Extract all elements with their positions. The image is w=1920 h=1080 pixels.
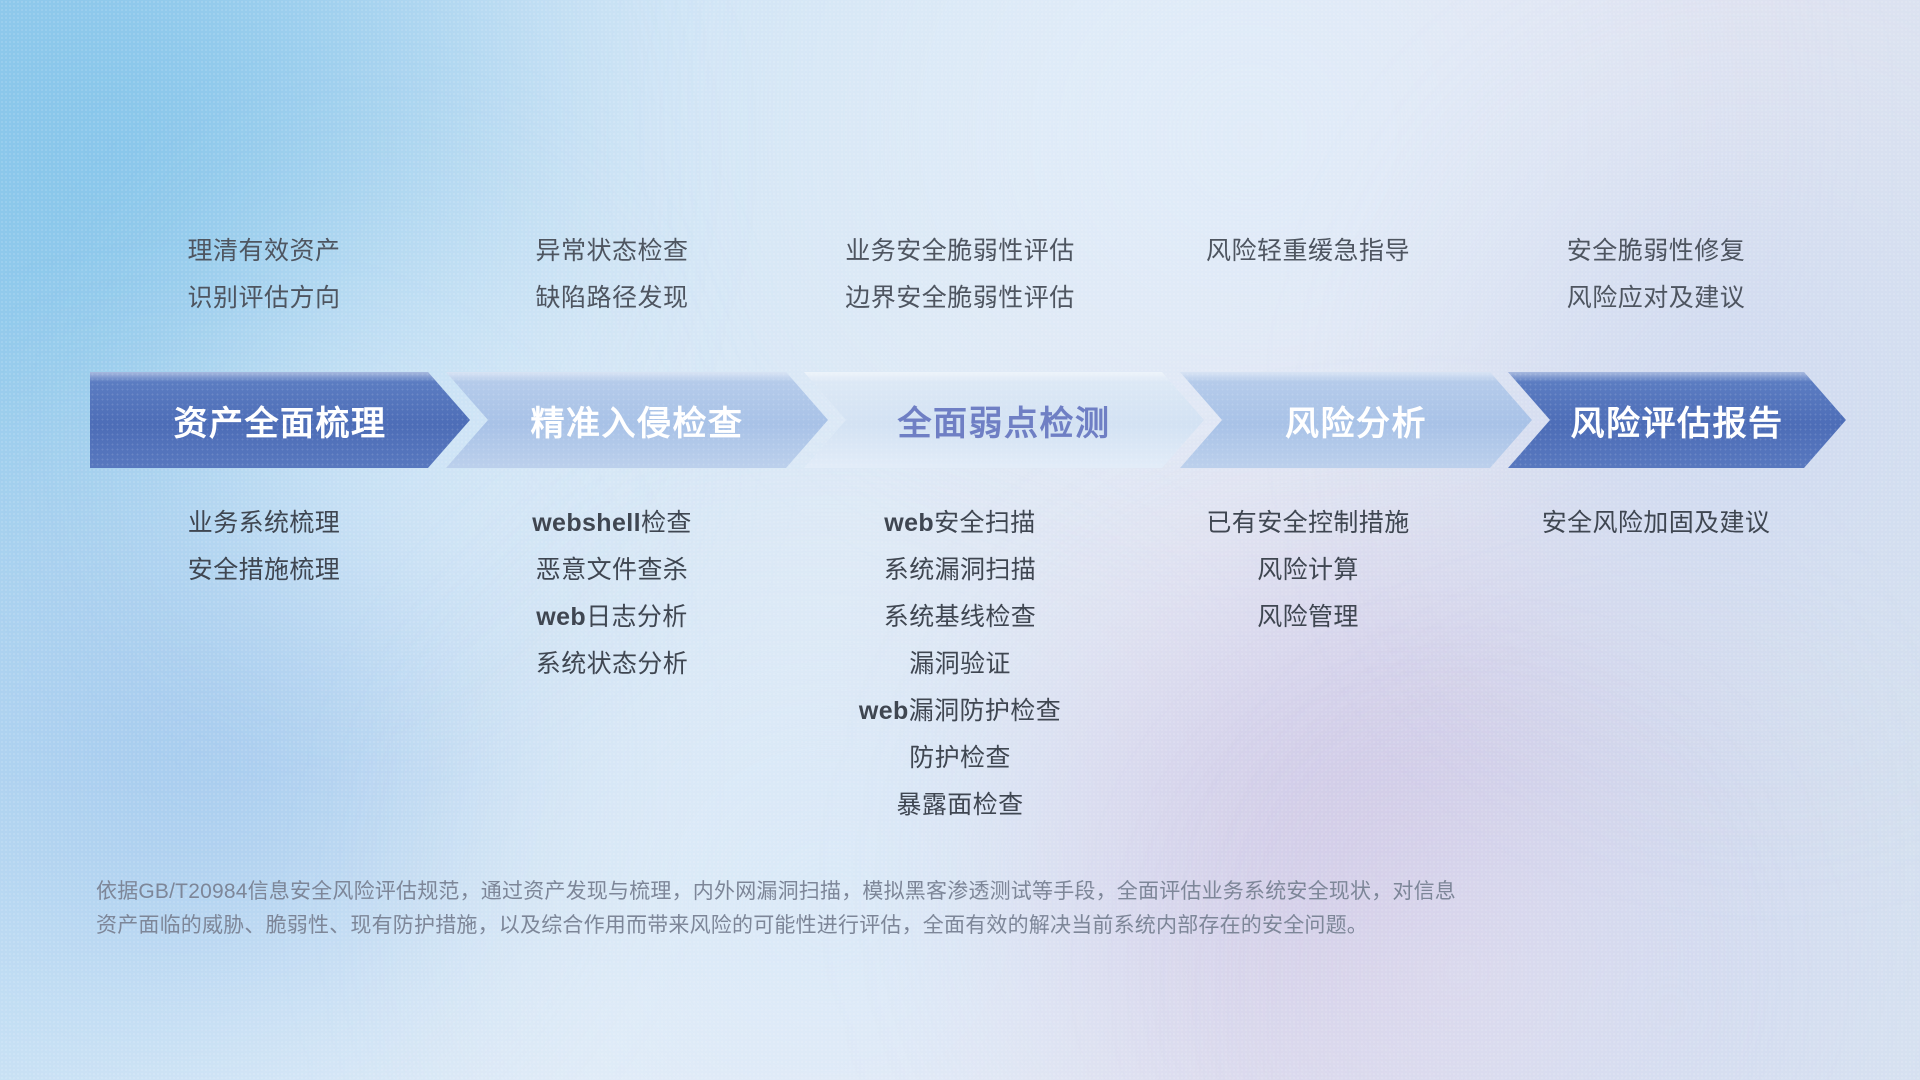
- arrow-highlight: [1180, 372, 1532, 382]
- task-item-emphasis: web: [884, 509, 934, 537]
- stage-title: 风险分析: [1285, 396, 1427, 445]
- stage-outputs-4: 风险轻重缓急指导: [1134, 228, 1482, 322]
- stage-outputs-1: 理清有效资产 识别评估方向: [90, 228, 438, 322]
- stage-tasks-2: webshell检查 恶意文件查杀 web日志分析 系统状态分析: [438, 500, 786, 829]
- footer-line-1: 依据GB/T20984信息安全风险评估规范，通过资产发现与梳理，内外网漏洞扫描，…: [96, 875, 1656, 909]
- stage-tasks-row: 业务系统梳理 安全措施梳理 webshell检查 恶意文件查杀 web日志分析 …: [90, 500, 1830, 829]
- footer-line-2: 资产面临的威胁、脆弱性、现有防护措施，以及综合作用而带来风险的可能性进行评估，全…: [96, 909, 1656, 943]
- task-item: webshell检查: [438, 500, 786, 547]
- stage-arrow-band: 资产全面梳理 精准入侵检查 全面弱点检测 风险分析 风险评估报告: [90, 372, 1846, 468]
- process-diagram: 理清有效资产 识别评估方向 异常状态检查 缺陷路径发现 业务安全脆弱性评估 边界…: [0, 0, 1920, 1080]
- arrow-highlight: [804, 372, 1204, 382]
- stage-tasks-1: 业务系统梳理 安全措施梳理: [90, 500, 438, 829]
- stage-title: 资产全面梳理: [174, 396, 387, 445]
- task-item: web日志分析: [438, 594, 786, 641]
- task-item-emphasis: webshell: [532, 509, 641, 537]
- task-item: 风险管理: [1134, 594, 1482, 641]
- task-item-rest: 安全扫描: [934, 509, 1036, 537]
- task-item: 漏洞验证: [786, 641, 1134, 688]
- stage-output-text: 异常状态检查: [438, 228, 786, 275]
- stage-tasks-4: 已有安全控制措施 风险计算 风险管理: [1134, 500, 1482, 829]
- stage-outputs-5: 安全脆弱性修复 风险应对及建议: [1482, 228, 1830, 322]
- stage-output-text: 业务安全脆弱性评估: [786, 228, 1134, 275]
- stage-arrow-4[interactable]: 风险分析: [1180, 372, 1532, 468]
- stage-output-text: 识别评估方向: [90, 275, 438, 322]
- task-item: 安全风险加固及建议: [1482, 500, 1830, 547]
- stage-output-text: 安全脆弱性修复: [1482, 228, 1830, 275]
- footer-description: 依据GB/T20984信息安全风险评估规范，通过资产发现与梳理，内外网漏洞扫描，…: [96, 875, 1656, 943]
- stage-output-text: 缺陷路径发现: [438, 275, 786, 322]
- task-item: 系统状态分析: [438, 641, 786, 688]
- stage-output-text: 风险应对及建议: [1482, 275, 1830, 322]
- stage-arrow-3[interactable]: 全面弱点检测: [804, 372, 1204, 468]
- stage-title: 精准入侵检查: [531, 396, 744, 445]
- stage-tasks-5: 安全风险加固及建议: [1482, 500, 1830, 829]
- task-item: 安全措施梳理: [90, 547, 438, 594]
- stage-output-text: 风险轻重缓急指导: [1134, 228, 1482, 275]
- stage-outputs-2: 异常状态检查 缺陷路径发现: [438, 228, 786, 322]
- stage-tasks-3: web安全扫描 系统漏洞扫描 系统基线检查 漏洞验证 web漏洞防护检查 防护检…: [786, 500, 1134, 829]
- task-item: 防护检查: [786, 735, 1134, 782]
- task-item: 系统漏洞扫描: [786, 547, 1134, 594]
- task-item-emphasis: web: [859, 697, 909, 725]
- stage-arrow-2[interactable]: 精准入侵检查: [446, 372, 828, 468]
- task-item: 系统基线检查: [786, 594, 1134, 641]
- stage-arrow-1[interactable]: 资产全面梳理: [90, 372, 470, 468]
- stage-output-text: 边界安全脆弱性评估: [786, 275, 1134, 322]
- arrow-highlight: [446, 372, 828, 382]
- stage-title: 风险评估报告: [1571, 396, 1784, 445]
- task-item: 已有安全控制措施: [1134, 500, 1482, 547]
- task-item: web漏洞防护检查: [786, 688, 1134, 735]
- task-item: web安全扫描: [786, 500, 1134, 547]
- stage-arrow-5[interactable]: 风险评估报告: [1508, 372, 1846, 468]
- task-item-rest: 漏洞防护检查: [909, 697, 1061, 725]
- stage-output-text: 理清有效资产: [90, 228, 438, 275]
- stage-outputs-3: 业务安全脆弱性评估 边界安全脆弱性评估: [786, 228, 1134, 322]
- arrow-highlight: [90, 372, 470, 382]
- arrow-highlight: [1508, 372, 1846, 382]
- task-item: 恶意文件查杀: [438, 547, 786, 594]
- task-item-rest: 检查: [641, 509, 692, 537]
- task-item-rest: 日志分析: [586, 603, 688, 631]
- stage-title: 全面弱点检测: [898, 396, 1111, 445]
- task-item: 风险计算: [1134, 547, 1482, 594]
- task-item: 暴露面检查: [786, 782, 1134, 829]
- task-item-emphasis: web: [536, 603, 586, 631]
- stage-outputs-row: 理清有效资产 识别评估方向 异常状态检查 缺陷路径发现 业务安全脆弱性评估 边界…: [90, 228, 1830, 322]
- task-item: 业务系统梳理: [90, 500, 438, 547]
